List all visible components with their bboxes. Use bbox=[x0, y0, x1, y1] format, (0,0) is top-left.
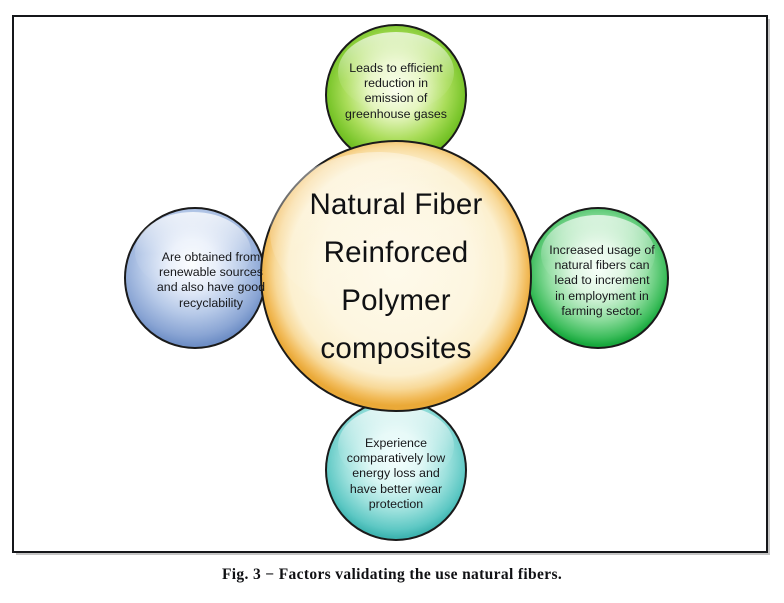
radial-bubble-diagram bbox=[0, 0, 784, 603]
satellite-bubble-right[interactable] bbox=[528, 208, 668, 348]
center-bubble[interactable] bbox=[261, 141, 531, 411]
satellite-bubble-bottom[interactable] bbox=[326, 400, 466, 540]
satellite-bubble-left[interactable] bbox=[125, 208, 265, 348]
figure-caption: Fig. 3 − Factors validating the use natu… bbox=[0, 566, 784, 584]
